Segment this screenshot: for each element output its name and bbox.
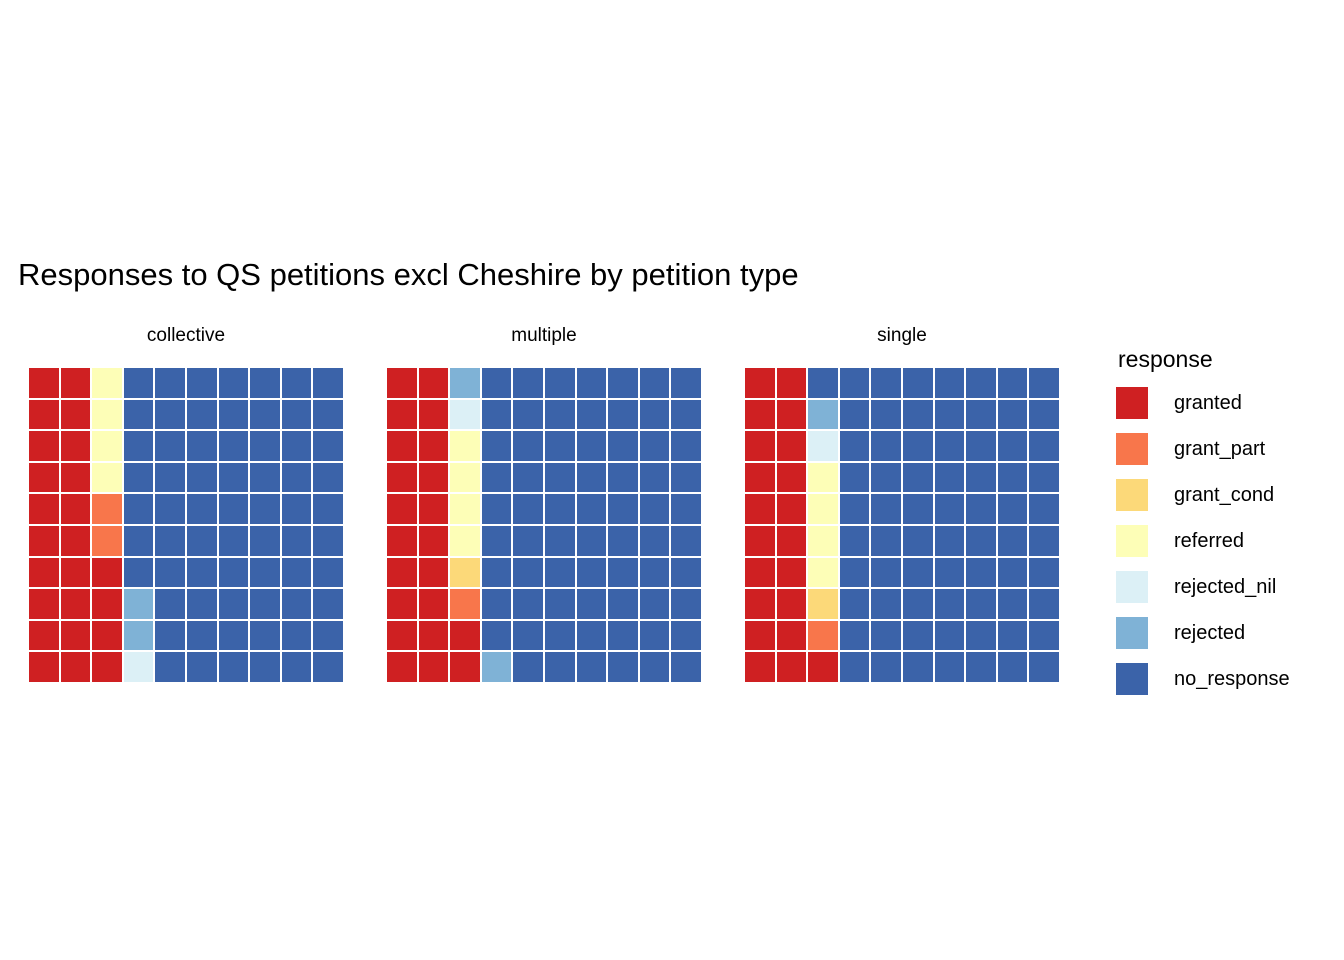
waffle-cell-granted xyxy=(61,463,91,493)
waffle-cell-no_response xyxy=(250,431,280,461)
waffle-cell-granted xyxy=(29,494,59,524)
waffle-cell-no_response xyxy=(219,368,249,398)
waffle-cell-no_response xyxy=(577,558,607,588)
waffle-cell-no_response xyxy=(998,652,1028,682)
waffle-cell-no_response xyxy=(513,463,543,493)
waffle-cell-granted xyxy=(777,589,807,619)
legend-item-grant_part[interactable]: grant_part xyxy=(1116,426,1340,472)
waffle-cell-no_response xyxy=(187,400,217,430)
waffle-cell-granted xyxy=(92,621,122,651)
facet-panels: collective multiple single xyxy=(29,318,1059,682)
waffle-grid-collective xyxy=(29,368,343,682)
waffle-cell-referred xyxy=(808,558,838,588)
waffle-cell-no_response xyxy=(155,368,185,398)
waffle-cell-no_response xyxy=(577,526,607,556)
waffle-cell-no_response xyxy=(219,431,249,461)
waffle-cell-granted xyxy=(387,652,417,682)
waffle-cell-no_response xyxy=(513,526,543,556)
waffle-cell-no_response xyxy=(903,558,933,588)
waffle-cell-no_response xyxy=(935,494,965,524)
waffle-cell-no_response xyxy=(577,463,607,493)
legend-label-grant_cond: grant_cond xyxy=(1174,483,1274,507)
waffle-cell-granted xyxy=(745,368,775,398)
waffle-cell-no_response xyxy=(871,463,901,493)
legend-label-rejected_nil: rejected_nil xyxy=(1174,575,1276,599)
waffle-cell-no_response xyxy=(871,589,901,619)
waffle-cell-rejected xyxy=(450,368,480,398)
waffle-cell-granted xyxy=(29,621,59,651)
waffle-cell-granted xyxy=(419,652,449,682)
waffle-cell-no_response xyxy=(219,589,249,619)
waffle-cell-no_response xyxy=(282,589,312,619)
waffle-cell-no_response xyxy=(219,400,249,430)
waffle-cell-no_response xyxy=(608,526,638,556)
waffle-cell-no_response xyxy=(187,589,217,619)
waffle-cell-no_response xyxy=(219,652,249,682)
waffle-cell-no_response xyxy=(482,494,512,524)
waffle-cell-referred xyxy=(92,463,122,493)
waffle-cell-referred xyxy=(808,526,838,556)
waffle-cell-no_response xyxy=(608,589,638,619)
waffle-cell-no_response xyxy=(998,526,1028,556)
waffle-cell-no_response xyxy=(219,621,249,651)
waffle-cell-no_response xyxy=(482,463,512,493)
waffle-cell-no_response xyxy=(871,652,901,682)
waffle-cell-no_response xyxy=(840,621,870,651)
waffle-cell-no_response xyxy=(282,621,312,651)
waffle-cell-no_response xyxy=(671,463,701,493)
waffle-cell-no_response xyxy=(871,558,901,588)
waffle-cell-no_response xyxy=(250,368,280,398)
legend-label-granted: granted xyxy=(1174,391,1242,415)
waffle-cell-no_response xyxy=(966,652,996,682)
waffle-cell-granted xyxy=(387,621,417,651)
waffle-cell-granted xyxy=(419,463,449,493)
waffle-cell-granted xyxy=(777,526,807,556)
waffle-cell-no_response xyxy=(935,652,965,682)
waffle-cell-referred xyxy=(450,526,480,556)
waffle-cell-no_response xyxy=(513,558,543,588)
waffle-cell-no_response xyxy=(671,368,701,398)
waffle-cell-no_response xyxy=(124,463,154,493)
facet-strip-label-collective: collective xyxy=(29,318,343,354)
waffle-cell-no_response xyxy=(219,526,249,556)
waffle-cell-no_response xyxy=(545,621,575,651)
waffle-cell-no_response xyxy=(608,431,638,461)
waffle-cell-no_response xyxy=(1029,400,1059,430)
legend-item-no_response[interactable]: no_response xyxy=(1116,656,1340,702)
waffle-cell-no_response xyxy=(1029,463,1059,493)
waffle-cell-granted xyxy=(387,400,417,430)
legend-item-rejected_nil[interactable]: rejected_nil xyxy=(1116,564,1340,610)
waffle-cell-no_response xyxy=(608,463,638,493)
waffle-cell-no_response xyxy=(671,652,701,682)
waffle-cell-no_response xyxy=(155,526,185,556)
waffle-cell-no_response xyxy=(840,589,870,619)
waffle-cell-granted xyxy=(745,621,775,651)
waffle-cell-rejected xyxy=(124,589,154,619)
waffle-cell-no_response xyxy=(998,463,1028,493)
waffle-cell-no_response xyxy=(871,621,901,651)
waffle-cell-no_response xyxy=(545,400,575,430)
waffle-cell-no_response xyxy=(187,652,217,682)
waffle-cell-granted xyxy=(387,526,417,556)
waffle-cell-no_response xyxy=(608,558,638,588)
waffle-cell-no_response xyxy=(513,589,543,619)
legend-item-rejected[interactable]: rejected xyxy=(1116,610,1340,656)
waffle-cell-no_response xyxy=(871,431,901,461)
waffle-cell-granted xyxy=(61,431,91,461)
waffle-cell-no_response xyxy=(608,652,638,682)
waffle-cell-no_response xyxy=(313,652,343,682)
waffle-cell-no_response xyxy=(1029,494,1059,524)
waffle-cell-grant_part xyxy=(92,494,122,524)
waffle-cell-granted xyxy=(450,621,480,651)
waffle-cell-no_response xyxy=(903,589,933,619)
waffle-cell-no_response xyxy=(250,621,280,651)
waffle-cell-no_response xyxy=(671,526,701,556)
waffle-cell-no_response xyxy=(577,431,607,461)
waffle-cell-no_response xyxy=(1029,431,1059,461)
waffle-cell-no_response xyxy=(313,558,343,588)
waffle-cell-no_response xyxy=(313,494,343,524)
legend-label-no_response: no_response xyxy=(1174,667,1290,691)
waffle-cell-no_response xyxy=(577,494,607,524)
waffle-cell-no_response xyxy=(966,400,996,430)
waffle-cell-no_response xyxy=(250,526,280,556)
facet-panel-single: single xyxy=(745,318,1059,682)
waffle-cell-granted xyxy=(29,431,59,461)
waffle-cell-no_response xyxy=(313,621,343,651)
waffle-grid-multiple xyxy=(387,368,701,682)
waffle-cell-rejected_nil xyxy=(808,431,838,461)
waffle-cell-granted xyxy=(419,526,449,556)
waffle-cell-no_response xyxy=(124,526,154,556)
waffle-cell-no_response xyxy=(282,494,312,524)
waffle-cell-no_response xyxy=(608,368,638,398)
waffle-cell-no_response xyxy=(871,400,901,430)
waffle-cell-granted xyxy=(61,621,91,651)
waffle-cell-no_response xyxy=(187,494,217,524)
waffle-cell-no_response xyxy=(903,652,933,682)
waffle-cell-no_response xyxy=(998,431,1028,461)
waffle-cell-no_response xyxy=(903,526,933,556)
waffle-cell-no_response xyxy=(124,494,154,524)
waffle-cell-no_response xyxy=(545,463,575,493)
waffle-cell-no_response xyxy=(998,558,1028,588)
waffle-cell-grant_part xyxy=(450,589,480,619)
legend-title: response xyxy=(1118,344,1340,374)
facet-strip-label-multiple: multiple xyxy=(387,318,701,354)
waffle-cell-granted xyxy=(450,652,480,682)
waffle-cell-granted xyxy=(29,526,59,556)
waffle-cell-no_response xyxy=(577,400,607,430)
waffle-cell-no_response xyxy=(840,494,870,524)
waffle-cell-referred xyxy=(450,494,480,524)
waffle-cell-no_response xyxy=(577,652,607,682)
waffle-cell-no_response xyxy=(155,589,185,619)
waffle-cell-granted xyxy=(387,368,417,398)
waffle-cell-no_response xyxy=(671,400,701,430)
waffle-cell-no_response xyxy=(187,621,217,651)
waffle-cell-rejected xyxy=(808,400,838,430)
legend-label-grant_part: grant_part xyxy=(1174,437,1265,461)
waffle-cell-no_response xyxy=(1029,558,1059,588)
waffle-cell-granted xyxy=(777,652,807,682)
waffle-cell-no_response xyxy=(577,621,607,651)
page-title: Responses to QS petitions excl Cheshire … xyxy=(18,254,799,296)
waffle-cell-no_response xyxy=(282,463,312,493)
waffle-cell-granted xyxy=(92,652,122,682)
legend: response grantedgrant_partgrant_condrefe… xyxy=(1116,344,1340,702)
waffle-cell-no_response xyxy=(545,368,575,398)
waffle-cell-no_response xyxy=(482,558,512,588)
waffle-cell-granted xyxy=(92,558,122,588)
waffle-cell-referred xyxy=(92,368,122,398)
waffle-cell-no_response xyxy=(513,621,543,651)
waffle-cell-no_response xyxy=(998,589,1028,619)
waffle-cell-no_response xyxy=(608,494,638,524)
waffle-cell-no_response xyxy=(840,558,870,588)
waffle-cell-no_response xyxy=(545,431,575,461)
waffle-cell-granted xyxy=(61,494,91,524)
waffle-cell-no_response xyxy=(640,494,670,524)
waffle-cell-no_response xyxy=(282,368,312,398)
waffle-cell-no_response xyxy=(966,621,996,651)
waffle-cell-no_response xyxy=(935,431,965,461)
waffle-cell-no_response xyxy=(1029,589,1059,619)
waffle-cell-granted xyxy=(777,463,807,493)
waffle-cell-no_response xyxy=(935,368,965,398)
waffle-grid-single xyxy=(745,368,1059,682)
waffle-cell-granted xyxy=(387,463,417,493)
waffle-cell-no_response xyxy=(187,526,217,556)
waffle-cell-no_response xyxy=(640,589,670,619)
waffle-cell-no_response xyxy=(545,494,575,524)
waffle-cell-referred xyxy=(450,431,480,461)
waffle-cell-granted xyxy=(29,652,59,682)
waffle-cell-no_response xyxy=(124,431,154,461)
waffle-cell-no_response xyxy=(1029,368,1059,398)
waffle-cell-granted xyxy=(419,400,449,430)
waffle-cell-no_response xyxy=(513,494,543,524)
waffle-cell-no_response xyxy=(187,431,217,461)
waffle-cell-no_response xyxy=(577,368,607,398)
waffle-cell-no_response xyxy=(313,400,343,430)
waffle-cell-granted xyxy=(419,621,449,651)
waffle-cell-no_response xyxy=(482,431,512,461)
waffle-cell-granted xyxy=(745,400,775,430)
waffle-cell-no_response xyxy=(513,652,543,682)
waffle-cell-no_response xyxy=(935,463,965,493)
waffle-cell-rejected_nil xyxy=(124,652,154,682)
waffle-cell-no_response xyxy=(1029,526,1059,556)
waffle-cell-granted xyxy=(745,494,775,524)
waffle-cell-no_response xyxy=(124,558,154,588)
waffle-cell-no_response xyxy=(903,368,933,398)
waffle-cell-no_response xyxy=(313,589,343,619)
waffle-cell-granted xyxy=(387,494,417,524)
waffle-cell-no_response xyxy=(545,589,575,619)
waffle-cell-granted xyxy=(92,589,122,619)
waffle-cell-granted xyxy=(777,621,807,651)
waffle-cell-no_response xyxy=(219,494,249,524)
waffle-cell-granted xyxy=(29,589,59,619)
waffle-cell-rejected xyxy=(482,652,512,682)
waffle-cell-no_response xyxy=(871,494,901,524)
waffle-cell-no_response xyxy=(282,558,312,588)
waffle-cell-granted xyxy=(61,368,91,398)
waffle-cell-granted xyxy=(419,589,449,619)
waffle-cell-no_response xyxy=(513,368,543,398)
waffle-cell-granted xyxy=(61,652,91,682)
waffle-cell-no_response xyxy=(608,621,638,651)
waffle-cell-no_response xyxy=(871,526,901,556)
waffle-cell-granted xyxy=(745,558,775,588)
waffle-cell-granted xyxy=(745,463,775,493)
legend-item-referred[interactable]: referred xyxy=(1116,518,1340,564)
facet-panel-multiple: multiple xyxy=(387,318,701,682)
waffle-cell-no_response xyxy=(903,431,933,461)
legend-item-granted[interactable]: granted xyxy=(1116,380,1340,426)
waffle-cell-grant_part xyxy=(92,526,122,556)
waffle-cell-no_response xyxy=(671,621,701,651)
waffle-cell-no_response xyxy=(840,652,870,682)
waffle-cell-rejected_nil xyxy=(450,400,480,430)
waffle-cell-no_response xyxy=(282,431,312,461)
legend-label-referred: referred xyxy=(1174,529,1244,553)
waffle-cell-no_response xyxy=(155,431,185,461)
waffle-cell-no_response xyxy=(935,400,965,430)
waffle-cell-no_response xyxy=(1029,652,1059,682)
facet-panel-collective: collective xyxy=(29,318,343,682)
waffle-cell-granted xyxy=(29,400,59,430)
waffle-cell-granted xyxy=(387,589,417,619)
waffle-cell-no_response xyxy=(187,463,217,493)
waffle-cell-granted xyxy=(61,526,91,556)
waffle-cell-no_response xyxy=(545,652,575,682)
waffle-cell-granted xyxy=(419,494,449,524)
waffle-cell-no_response xyxy=(608,400,638,430)
waffle-cell-no_response xyxy=(640,400,670,430)
waffle-cell-no_response xyxy=(640,558,670,588)
waffle-cell-no_response xyxy=(640,431,670,461)
waffle-cell-no_response xyxy=(282,526,312,556)
waffle-cell-no_response xyxy=(903,463,933,493)
waffle-cell-granted xyxy=(745,652,775,682)
waffle-cell-no_response xyxy=(124,368,154,398)
legend-key-swatch-rejected_nil xyxy=(1116,571,1148,603)
waffle-cell-no_response xyxy=(998,621,1028,651)
waffle-cell-no_response xyxy=(640,652,670,682)
waffle-cell-granted xyxy=(745,431,775,461)
waffle-cell-no_response xyxy=(966,558,996,588)
waffle-cell-no_response xyxy=(966,526,996,556)
waffle-cell-granted xyxy=(745,526,775,556)
waffle-cell-granted xyxy=(808,652,838,682)
waffle-cell-no_response xyxy=(482,526,512,556)
legend-item-grant_cond[interactable]: grant_cond xyxy=(1116,472,1340,518)
waffle-cell-no_response xyxy=(250,463,280,493)
waffle-cell-no_response xyxy=(935,621,965,651)
waffle-cell-granted xyxy=(29,463,59,493)
waffle-chart-plot: Responses to QS petitions excl Cheshire … xyxy=(0,0,1344,960)
waffle-cell-no_response xyxy=(219,463,249,493)
legend-items: grantedgrant_partgrant_condreferredrejec… xyxy=(1116,380,1340,702)
legend-key-swatch-grant_cond xyxy=(1116,479,1148,511)
waffle-cell-no_response xyxy=(187,558,217,588)
waffle-cell-no_response xyxy=(935,589,965,619)
waffle-cell-referred xyxy=(808,463,838,493)
waffle-cell-no_response xyxy=(935,558,965,588)
waffle-cell-granted xyxy=(419,431,449,461)
waffle-cell-no_response xyxy=(871,368,901,398)
waffle-cell-grant_part xyxy=(808,621,838,651)
waffle-cell-no_response xyxy=(640,621,670,651)
waffle-cell-granted xyxy=(777,558,807,588)
waffle-cell-no_response xyxy=(482,368,512,398)
waffle-cell-no_response xyxy=(671,558,701,588)
waffle-cell-granted xyxy=(61,400,91,430)
legend-key-swatch-rejected xyxy=(1116,617,1148,649)
waffle-cell-no_response xyxy=(250,558,280,588)
waffle-cell-no_response xyxy=(840,463,870,493)
waffle-cell-granted xyxy=(419,558,449,588)
waffle-cell-no_response xyxy=(313,368,343,398)
waffle-cell-granted xyxy=(61,589,91,619)
waffle-cell-no_response xyxy=(966,368,996,398)
waffle-cell-no_response xyxy=(903,494,933,524)
waffle-cell-referred xyxy=(808,494,838,524)
waffle-cell-no_response xyxy=(966,494,996,524)
waffle-cell-granted xyxy=(777,400,807,430)
waffle-cell-granted xyxy=(29,368,59,398)
waffle-cell-no_response xyxy=(840,526,870,556)
waffle-cell-granted xyxy=(745,589,775,619)
waffle-cell-no_response xyxy=(313,431,343,461)
legend-key-swatch-referred xyxy=(1116,525,1148,557)
waffle-cell-no_response xyxy=(840,400,870,430)
waffle-cell-no_response xyxy=(998,400,1028,430)
waffle-cell-no_response xyxy=(250,494,280,524)
waffle-cell-no_response xyxy=(482,589,512,619)
waffle-cell-granted xyxy=(419,368,449,398)
waffle-cell-no_response xyxy=(155,400,185,430)
waffle-cell-no_response xyxy=(903,400,933,430)
waffle-cell-referred xyxy=(92,431,122,461)
waffle-cell-no_response xyxy=(187,368,217,398)
waffle-cell-no_response xyxy=(155,494,185,524)
waffle-cell-no_response xyxy=(966,589,996,619)
waffle-cell-no_response xyxy=(840,368,870,398)
waffle-cell-granted xyxy=(777,368,807,398)
waffle-cell-referred xyxy=(92,400,122,430)
waffle-cell-no_response xyxy=(482,400,512,430)
waffle-cell-no_response xyxy=(124,400,154,430)
waffle-cell-referred xyxy=(450,463,480,493)
waffle-cell-no_response xyxy=(155,558,185,588)
waffle-cell-no_response xyxy=(671,431,701,461)
waffle-cell-granted xyxy=(29,558,59,588)
waffle-cell-grant_cond xyxy=(808,589,838,619)
waffle-cell-no_response xyxy=(545,526,575,556)
waffle-cell-no_response xyxy=(250,589,280,619)
waffle-cell-rejected xyxy=(124,621,154,651)
waffle-cell-granted xyxy=(777,431,807,461)
waffle-cell-granted xyxy=(387,558,417,588)
waffle-cell-no_response xyxy=(671,589,701,619)
waffle-cell-granted xyxy=(777,494,807,524)
